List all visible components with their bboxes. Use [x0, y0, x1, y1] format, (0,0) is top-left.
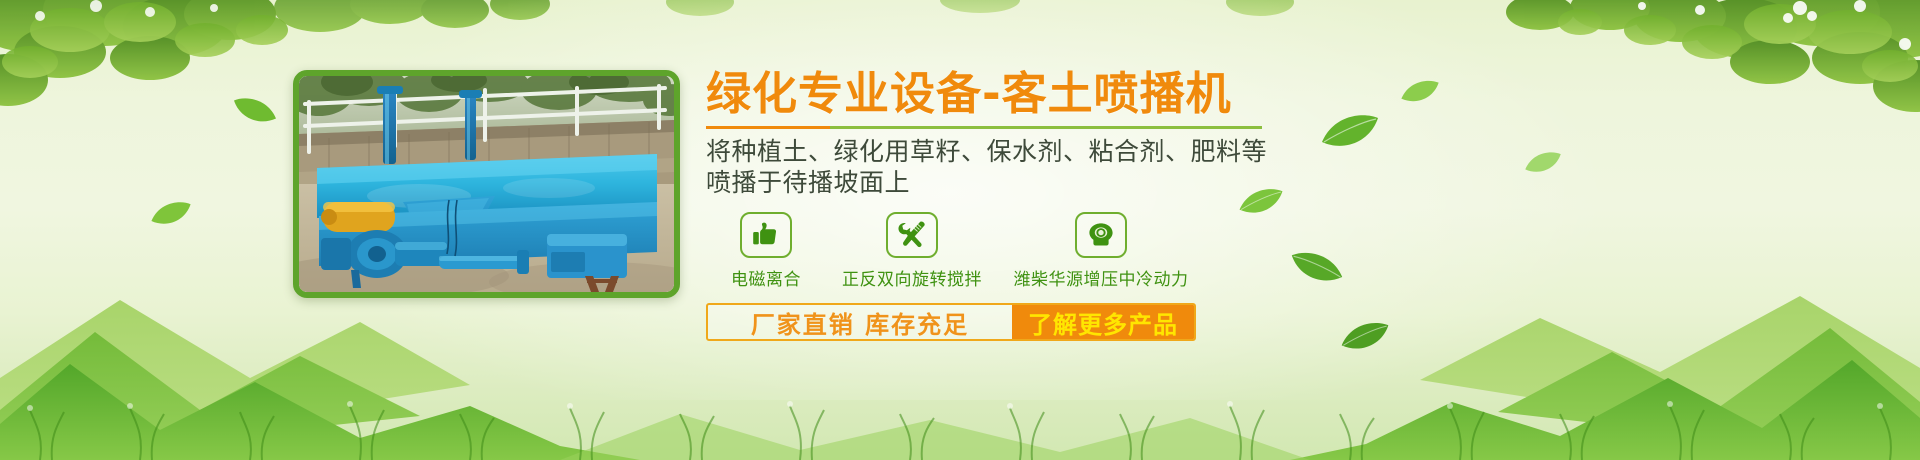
feature-icon-box [1075, 212, 1127, 258]
banner-subtitle: 将种植土、绿化用草籽、保水剂、粘合剂、肥料等 喷播于待播坡面上 [706, 136, 1406, 198]
cta-bar: 厂家直销 库存充足 了解更多产品 [706, 303, 1196, 341]
feature-label: 正反双向旋转搅拌 [826, 265, 998, 290]
promo-banner: 绿化专业设备-客土喷播机 将种植土、绿化用草籽、保水剂、粘合剂、肥料等 喷播于待… [0, 0, 1920, 460]
wrench-screwdriver-icon [897, 221, 927, 249]
feature-label: 电磁离合 [706, 265, 826, 290]
floating-leaf-icon [232, 96, 278, 126]
feature-list: 电磁离合 正反双向旋转搅拌 [706, 212, 1406, 290]
banner-title: 绿化专业设备-客土喷播机 [706, 68, 1406, 120]
floating-leaf-icon [1400, 78, 1440, 106]
product-photo-image [299, 76, 674, 292]
title-divider [706, 126, 1262, 129]
slogan-text: 厂家直销 库存充足 [708, 305, 1012, 339]
thumbs-up-icon [751, 221, 781, 249]
floating-leaf-icon [1524, 150, 1562, 176]
feature-icon-box [740, 212, 792, 258]
grass-decoration [0, 370, 1920, 460]
subtitle-line-2: 喷播于待播坡面上 [706, 167, 1406, 198]
floating-leaf-icon [150, 200, 192, 228]
product-photo [293, 70, 680, 298]
learn-more-button[interactable]: 了解更多产品 [1012, 305, 1194, 339]
feature-icon-box [886, 212, 938, 258]
feature-item-bidirectional-mixing: 正反双向旋转搅拌 [826, 212, 998, 290]
subtitle-line-1: 将种植土、绿化用草籽、保水剂、粘合剂、肥料等 [706, 136, 1406, 167]
engine-power-icon [1085, 221, 1117, 249]
feature-item-weichai-power: 潍柴华源增压中冷动力 [998, 212, 1204, 290]
feature-item-electromagnetic-clutch: 电磁离合 [706, 212, 826, 290]
banner-content: 绿化专业设备-客土喷播机 将种植土、绿化用草籽、保水剂、粘合剂、肥料等 喷播于待… [706, 68, 1406, 341]
divider-segment-orange [706, 126, 830, 129]
divider-segment-green [830, 126, 1262, 129]
feature-label: 潍柴华源增压中冷动力 [998, 265, 1204, 290]
